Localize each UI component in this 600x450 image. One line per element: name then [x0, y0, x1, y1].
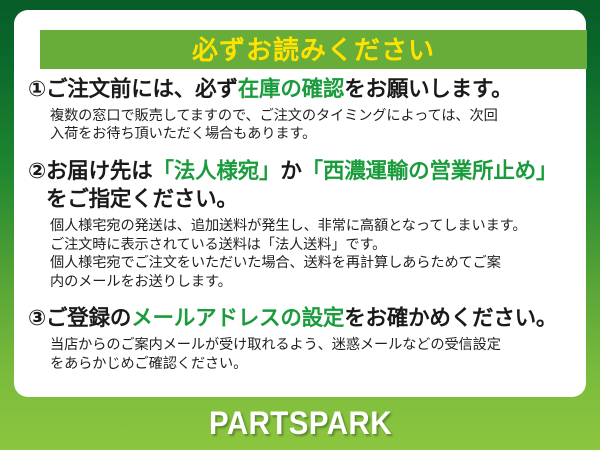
sub-line: 入荷をお待ち頂いただく場合もあります。	[50, 125, 588, 144]
notice-item-1-heading: ①ご注文前には、必ず在庫の確認をお願いします。	[28, 76, 588, 104]
notice-item-3-subtext: 当店からのご案内メールが受け取れるよう、迷惑メールなどの受信設定 をあらかじめご…	[28, 336, 588, 373]
footer-brand-band: PARTSPARK	[0, 397, 600, 450]
notice-item-2-heading-line-2: をご指定ください。	[28, 186, 588, 214]
sub-line: 当店からのご案内メールが受け取れるよう、迷惑メールなどの受信設定	[50, 336, 588, 355]
sub-line: 個人様宅宛でご注文をいただいた場合、送料を再計算しあらためてご案	[50, 254, 588, 273]
heading-text-plain-3a: ③ご登録の	[28, 306, 131, 330]
sub-line: 個人様宅宛の発送は、追加送料が発生し、非常に高額となってしまいます。	[50, 217, 588, 236]
heading-text-highlight-2a: 「法人様宛」	[153, 159, 281, 183]
brand-logo-text: PARTSPARK	[209, 405, 392, 442]
notice-card: 必ずお読みください ①ご注文前には、必ず在庫の確認をお願いします。 複数の窓口で…	[0, 0, 600, 450]
heading-text-plain-3b: をお確かめください。	[344, 306, 557, 330]
page-title: 必ずお読みください	[192, 37, 435, 63]
heading-text-highlight-3: メールアドレスの設定	[131, 306, 344, 330]
heading-text-highlight-1: 在庫の確認	[238, 77, 345, 101]
notice-list: ①ご注文前には、必ず在庫の確認をお願いします。 複数の窓口で販売してますので、ご…	[28, 76, 588, 376]
notice-item-2-heading: ②お届け先は「法人様宛」か「西濃運輸の営業所止め」 をご指定ください。	[28, 158, 588, 213]
notice-item-3-heading: ③ご登録のメールアドレスの設定をお確かめください。	[28, 305, 588, 333]
notice-item-1-subtext: 複数の窓口で販売してますので、ご注文のタイミングによっては、次回 入荷をお待ち頂…	[28, 107, 588, 144]
notice-item-2: ②お届け先は「法人様宛」か「西濃運輸の営業所止め」 をご指定ください。 個人様宅…	[28, 158, 588, 292]
header-banner: 必ずお読みください	[40, 30, 587, 69]
notice-item-2-subtext: 個人様宅宛の発送は、追加送料が発生し、非常に高額となってしまいます。 ご注文時に…	[28, 217, 588, 292]
heading-text-plain-1a: ①ご注文前には、必ず	[28, 77, 238, 101]
sub-line: をあらかじめご確認ください。	[50, 355, 588, 374]
heading-text-plain-2b: か	[280, 159, 301, 183]
sub-line: 複数の窓口で販売してますので、ご注文のタイミングによっては、次回	[50, 107, 588, 126]
notice-item-1: ①ご注文前には、必ず在庫の確認をお願いします。 複数の窓口で販売してますので、ご…	[28, 76, 588, 144]
sub-line: 内のメールをお送りします。	[50, 273, 588, 292]
white-panel: 必ずお読みください ①ご注文前には、必ず在庫の確認をお願いします。 複数の窓口で…	[14, 10, 586, 397]
sub-line: ご注文時に表示されている送料は「法人送料」です。	[50, 236, 588, 255]
notice-item-3: ③ご登録のメールアドレスの設定をお確かめください。 当店からのご案内メールが受け…	[28, 305, 588, 374]
heading-text-highlight-2b: 「西濃運輸の営業所止め」	[302, 159, 558, 183]
heading-text-plain-1b: をお願いします。	[344, 77, 512, 101]
heading-text-plain-2a: ②お届け先は	[28, 159, 153, 183]
